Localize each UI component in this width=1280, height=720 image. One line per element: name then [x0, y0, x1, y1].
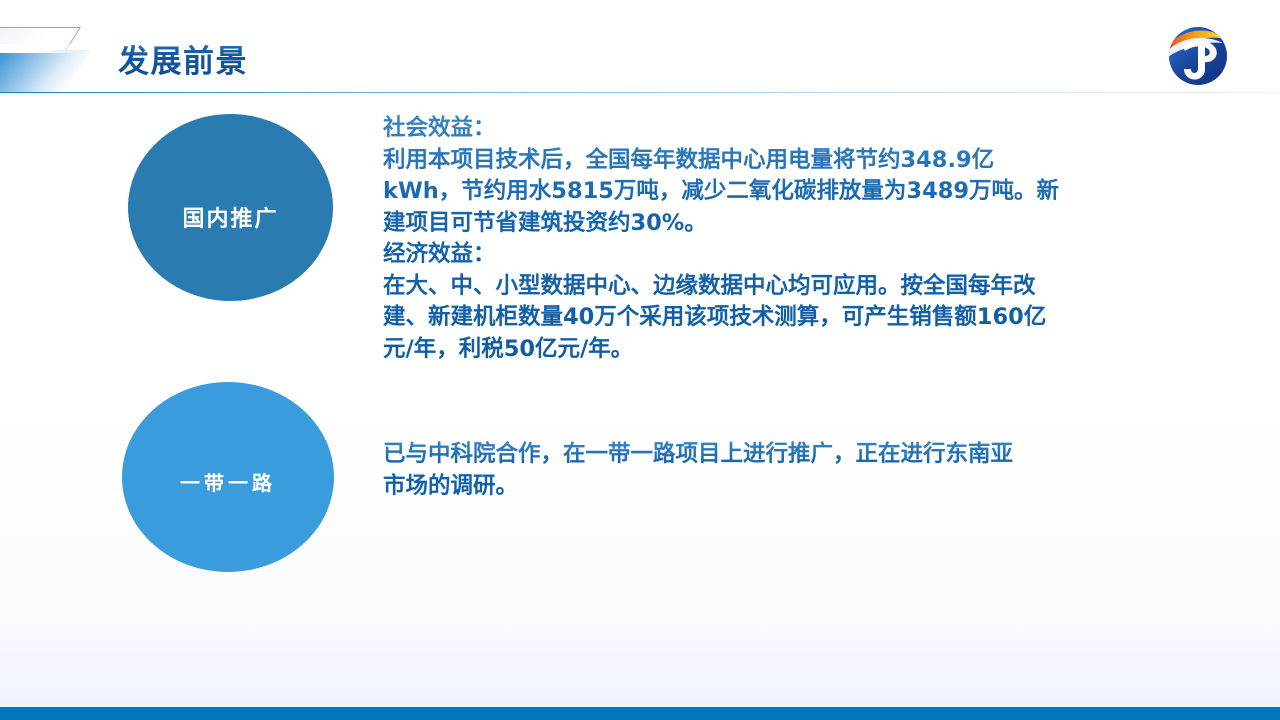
social-benefit-heading: 社会效益： [383, 113, 1061, 145]
footer-bar [0, 707, 1280, 720]
belt-and-road-body: 已与中科院合作，在一带一路项目上进行推广，正在进行东南亚市场的调研。 [383, 439, 1033, 502]
circle-domestic-promotion[interactable]: 国内推广 [128, 114, 333, 301]
circle-domestic-promotion-label: 国内推广 [182, 201, 278, 233]
benefits-text-block: 社会效益： 利用本项目技术后，全国每年数据中心用电量将节约348.9亿kWh，节… [383, 113, 1061, 365]
header-filled-parallelogram-icon [0, 50, 91, 92]
page-title: 发展前景 [118, 36, 248, 81]
slide-root: 发展前景 [0, 0, 1280, 720]
economic-benefit-body: 在大、中、小型数据中心、边缘数据中心均可应用。按全国每年改建、新建机柜数量40万… [383, 271, 1061, 366]
header-divider [0, 92, 1280, 93]
circle-belt-and-road[interactable]: 一带一路 [122, 382, 334, 572]
social-benefit-body: 利用本项目技术后，全国每年数据中心用电量将节约348.9亿kWh，节约用水581… [383, 145, 1061, 240]
belt-and-road-text-block: 已与中科院合作，在一带一路项目上进行推广，正在进行东南亚市场的调研。 [383, 439, 1033, 502]
circle-belt-and-road-label: 一带一路 [180, 467, 276, 496]
company-logo-icon [1167, 25, 1229, 87]
slide-header: 发展前景 [0, 0, 1280, 94]
economic-benefit-heading: 经济效益： [383, 239, 1061, 271]
header-split-wedge-icon [0, 44, 89, 53]
